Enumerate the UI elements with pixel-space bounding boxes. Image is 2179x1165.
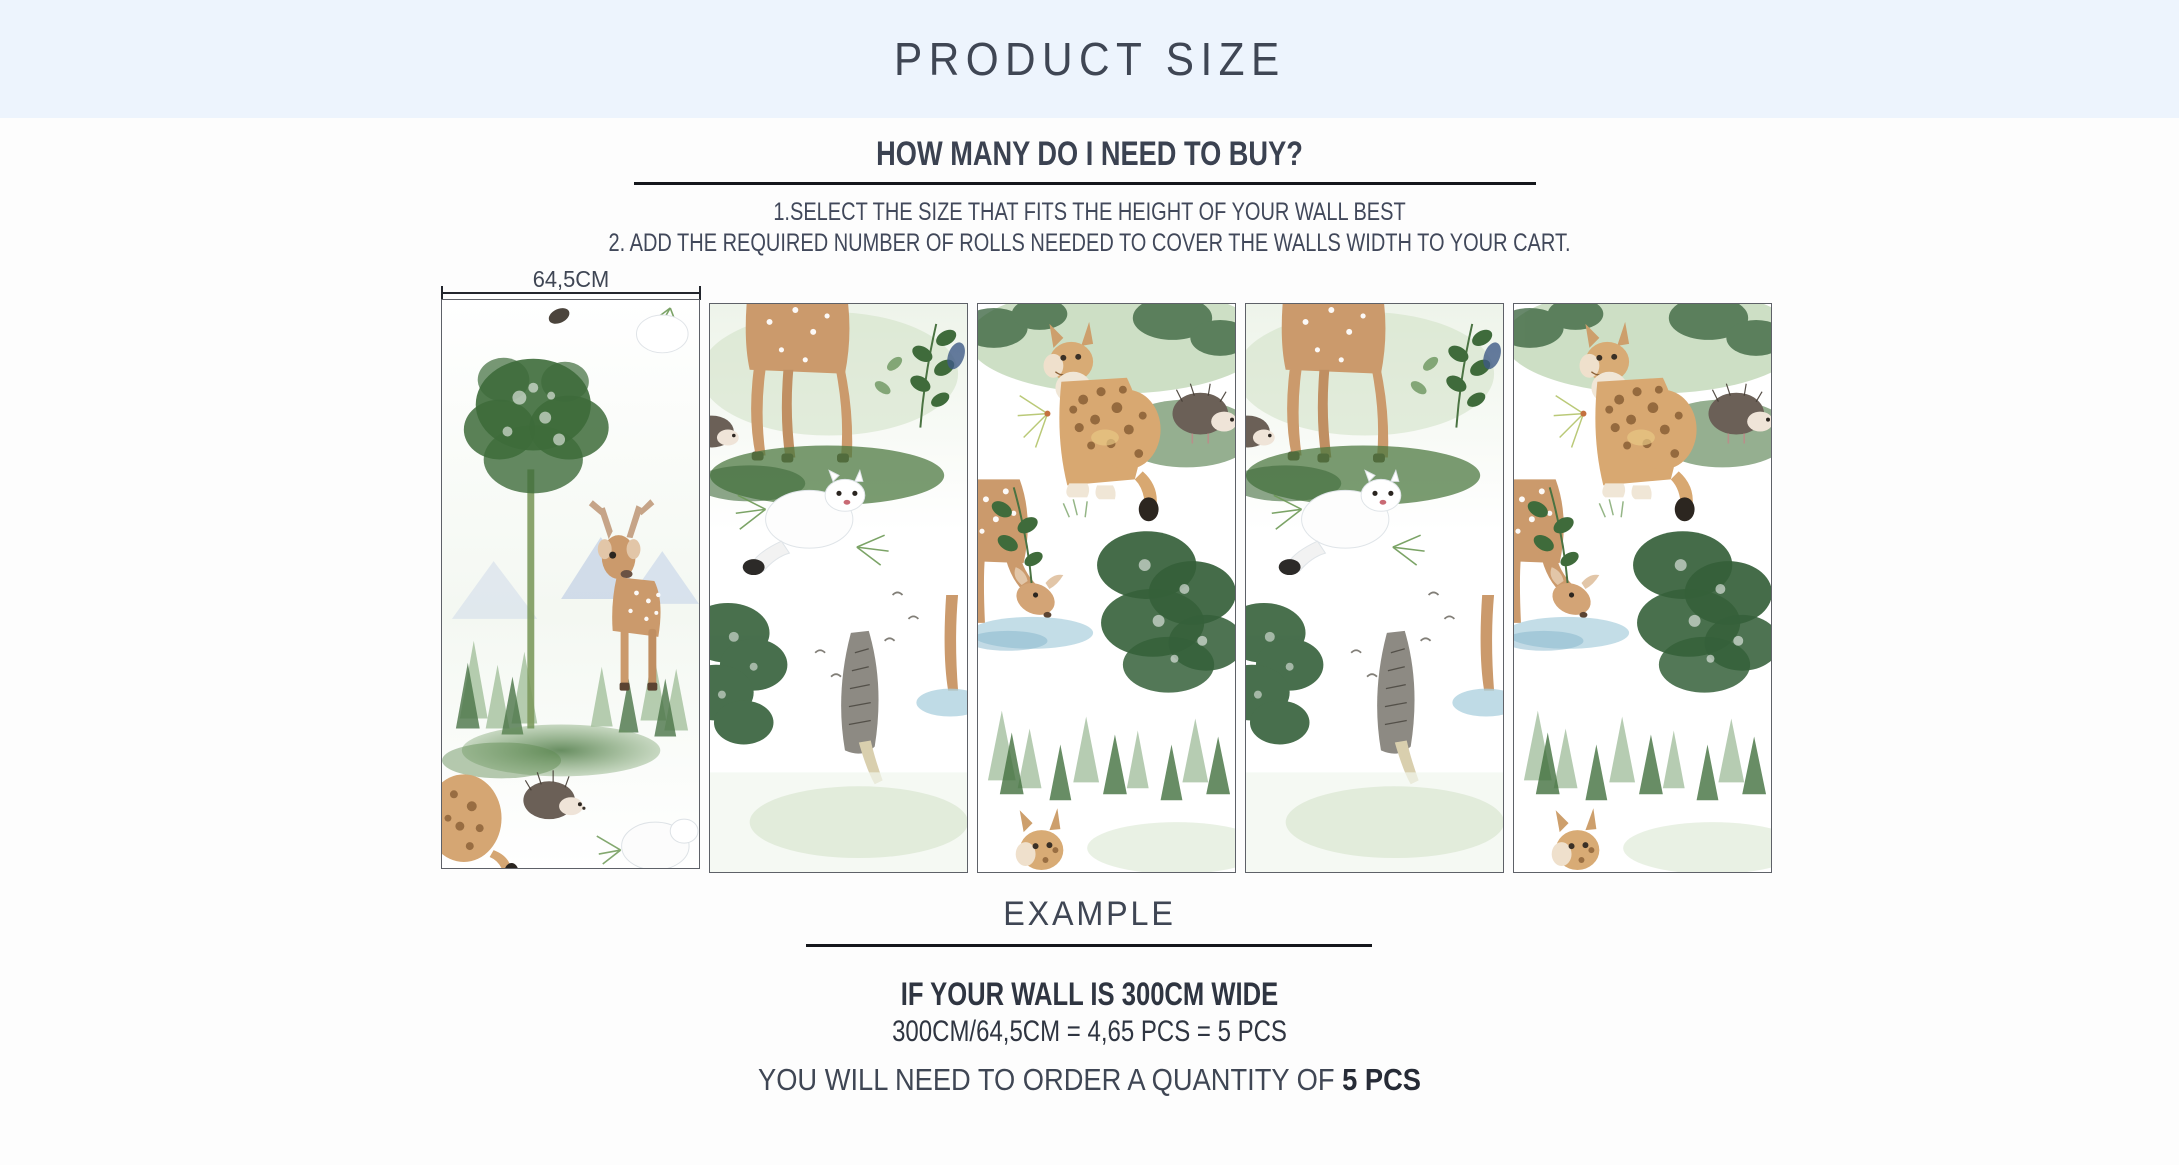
instruction-step-2: 2. ADD THE REQUIRED NUMBER OF ROLLS NEED…: [218, 229, 1961, 258]
page-title: PRODUCT SIZE: [894, 32, 1286, 86]
measurement-tick-left: [441, 286, 443, 300]
measurement-tick-right: [699, 286, 701, 300]
example-title: EXAMPLE: [54, 895, 2124, 934]
panel-4-artwork: [1246, 304, 1503, 872]
example-divider: [806, 944, 1372, 947]
page-header: PRODUCT SIZE: [0, 0, 2179, 118]
wallpaper-panel-2[interactable]: [709, 303, 968, 873]
measurement-line: [441, 292, 701, 294]
panel-1-artwork: [442, 300, 699, 868]
order-quantity-value: 5 PCS: [1342, 1062, 1421, 1097]
wallpaper-panel-4[interactable]: [1245, 303, 1504, 873]
order-quantity-prefix: YOU WILL NEED TO ORDER A QUANTITY OF: [758, 1062, 1342, 1097]
wallpaper-panel-5[interactable]: [1513, 303, 1772, 873]
measurement-bar: [441, 286, 701, 300]
wallpaper-panel-1[interactable]: [441, 299, 700, 869]
panel-5-artwork: [1514, 304, 1771, 872]
example-calculation: 300CM/64,5CM = 4,65 PCS = 5 PCS: [218, 1015, 1961, 1049]
example-order-quantity: YOU WILL NEED TO ORDER A QUANTITY OF 5 P…: [131, 1062, 2049, 1098]
example-wall-width: IF YOUR WALL IS 300CM WIDE: [218, 976, 1961, 1013]
guide-subtitle: HOW MANY DO I NEED TO BUY?: [218, 135, 1961, 174]
guide-divider: [634, 182, 1536, 185]
wallpaper-panel-3[interactable]: [977, 303, 1236, 873]
instruction-step-1: 1.SELECT THE SIZE THAT FITS THE HEIGHT O…: [218, 198, 1961, 227]
panel-2-artwork: [710, 304, 967, 872]
panel-3-artwork: [978, 304, 1235, 872]
